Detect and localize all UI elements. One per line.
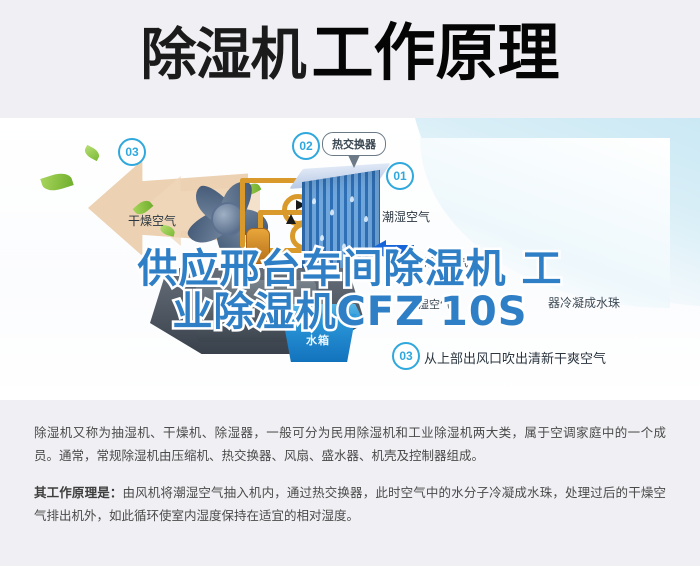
paragraph-principle-lead: 其工作原理是：	[34, 486, 123, 500]
paragraph-definition: 除湿机又称为抽湿机、干燥机、除湿器，一般可分为民用除湿机和工业除湿机两大类，属于…	[34, 422, 666, 468]
label-humid-air: 潮湿空气	[382, 208, 430, 225]
paragraph-principle-rest: 由风机将潮湿空气抽入机内，通过热交换器，此时空气中的水分子冷凝成水珠，处理过后的…	[34, 486, 666, 523]
step3-text: 从上部出风口吹出清新干爽空气	[424, 348, 606, 367]
title-part-1: 除湿机	[140, 23, 305, 88]
poster-root: 除湿机工作原理	[0, 0, 700, 566]
overlay-line-2: 业除湿机CFZ 10S	[0, 291, 700, 334]
page-title: 除湿机工作原理	[0, 22, 700, 84]
description-block: 除湿机又称为抽湿机、干燥机、除湿器，一般可分为民用除湿机和工业除湿机两大类，属于…	[0, 400, 700, 566]
product-overlay-title: 供应邢台车间除湿机 工 业除湿机CFZ 10S	[0, 248, 700, 334]
label-dry-air: 干燥空气	[128, 212, 176, 229]
step-badge-03-top: 03	[118, 138, 146, 166]
title-band: 除湿机工作原理	[0, 0, 700, 120]
title-part-2: 工作原理	[311, 16, 559, 89]
step-badge-02: 02	[292, 132, 320, 160]
step-badge-03-bottom: 03	[392, 342, 420, 370]
step-badge-01: 01	[386, 162, 414, 190]
paragraph-principle: 其工作原理是：由风机将潮湿空气抽入机内，通过热交换器，此时空气中的水分子冷凝成水…	[34, 482, 666, 528]
overlay-line-1: 供应邢台车间除湿机 工	[0, 248, 700, 291]
heat-exchanger-callout: 热交换器	[322, 132, 386, 156]
